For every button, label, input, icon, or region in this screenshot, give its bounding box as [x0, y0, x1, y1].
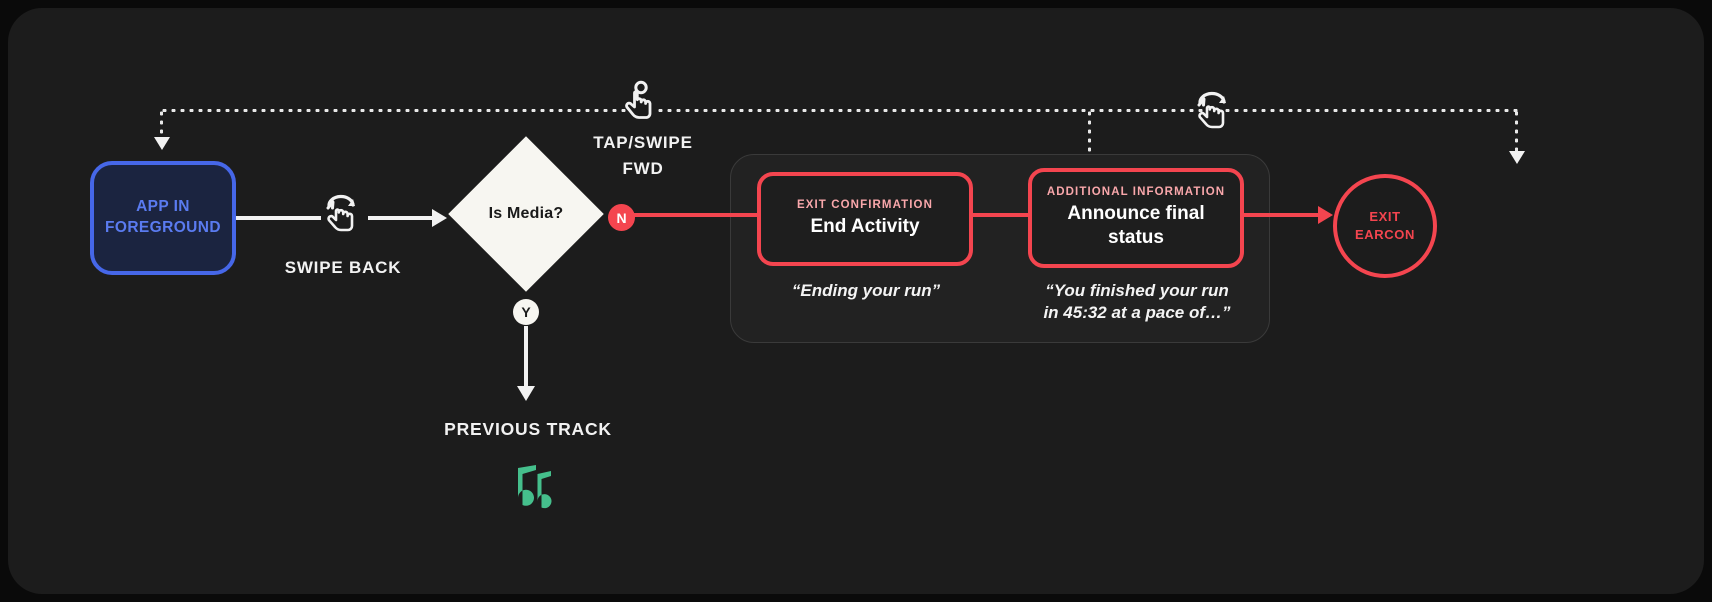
quote-exit-confirmation: “Ending your run”	[760, 280, 972, 302]
feedback-arrow-left	[154, 137, 170, 150]
swipe-gesture-icon	[323, 193, 359, 233]
diagram-canvas: APP IN FOREGROUND SWIPE BACK Is Media? N…	[0, 0, 1712, 602]
app-in-foreground-label: APP IN FOREGROUND	[105, 197, 221, 239]
card-additional-information-kicker: ADDITIONAL INFORMATION	[1047, 186, 1225, 198]
diagram-stage: APP IN FOREGROUND SWIPE BACK Is Media? N…	[8, 8, 1704, 594]
card-exit-confirmation[interactable]: EXIT CONFIRMATION End Activity	[757, 172, 973, 266]
music-notes-icon	[496, 460, 558, 518]
edge-yes-vertical	[524, 326, 528, 388]
quote-additional-information: “You finished your run in 45:32 at a pac…	[1020, 280, 1254, 324]
edge-no-to-card1	[633, 213, 761, 217]
card-additional-information-title: Announce final status	[1067, 202, 1204, 249]
feedback-arrow-right	[1509, 151, 1525, 164]
edge-arrow-previous-track	[517, 386, 535, 401]
card-exit-confirmation-kicker: EXIT CONFIRMATION	[797, 199, 933, 211]
edge-arrow-to-earcon	[1318, 206, 1333, 224]
edge-gesture-to-diamond	[368, 216, 434, 220]
label-previous-track: PREVIOUS TRACK	[428, 419, 628, 440]
feedback-line-left-horizontal	[160, 109, 630, 112]
label-tap-swipe-fwd: TAP/SWIPE FWD	[568, 130, 718, 181]
tap-gesture-icon	[621, 80, 655, 122]
exit-earcon-label: EXIT EARCON	[1355, 208, 1415, 243]
edge-app-to-gesture	[236, 216, 321, 220]
branch-badge-yes: Y	[513, 299, 539, 325]
card-additional-information[interactable]: ADDITIONAL INFORMATION Announce final st…	[1028, 168, 1244, 268]
card-exit-confirmation-title: End Activity	[810, 215, 919, 239]
feedback-line-left-vertical	[160, 109, 163, 139]
branch-badge-no: N	[608, 204, 635, 231]
edge-card2-to-earcon	[1240, 213, 1330, 217]
edge-arrow-to-diamond	[432, 209, 447, 227]
edge-card1-to-card2	[969, 213, 1032, 217]
swipe-gesture-icon	[1194, 90, 1230, 130]
feedback-line-right-vertical	[1515, 109, 1518, 153]
label-swipe-back: SWIPE BACK	[263, 258, 423, 278]
feedback-line-right-horizontal	[656, 109, 1518, 112]
node-exit-earcon[interactable]: EXIT EARCON	[1333, 174, 1437, 278]
node-app-in-foreground[interactable]: APP IN FOREGROUND	[90, 161, 236, 275]
